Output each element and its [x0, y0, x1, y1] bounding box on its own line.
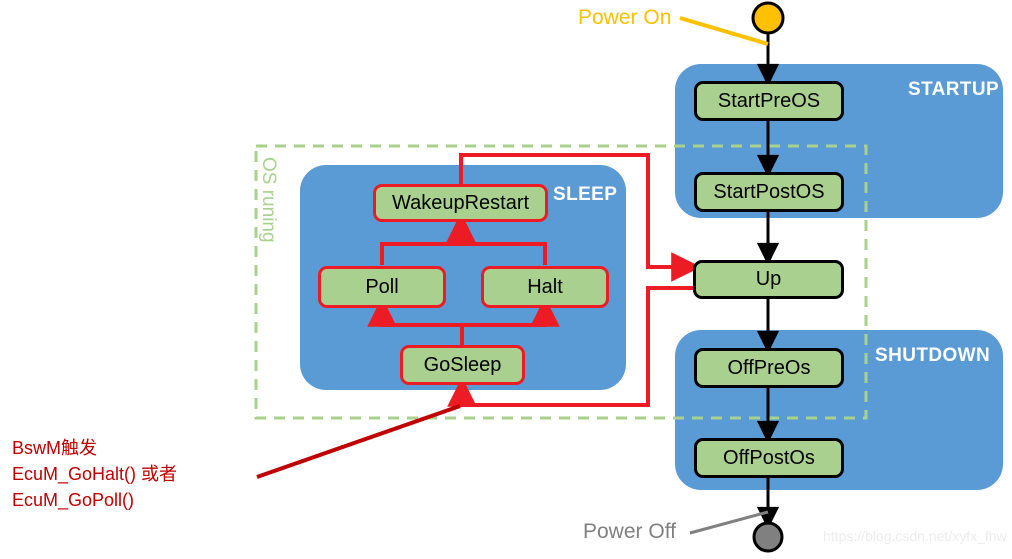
state-gosleep[interactable]: GoSleep: [400, 345, 525, 385]
leader-line-bswm-note: [257, 406, 460, 477]
power-off-final-node[interactable]: [754, 523, 782, 551]
bswm-trigger-note: BswM触发 EcuM_GoHalt() 或者 EcuM_GoPoll(): [12, 435, 177, 513]
state-offpostos[interactable]: OffPostOs: [694, 438, 844, 478]
diagram-canvas: STARTUP SLEEP SHUTDOWN OS runing StartPr…: [0, 0, 1012, 559]
os-running-label: OS runing: [257, 157, 279, 243]
state-up[interactable]: Up: [693, 260, 844, 299]
state-startpreos[interactable]: StartPreOS: [694, 81, 844, 121]
power-off-label: Power Off: [583, 520, 676, 544]
power-on-initial-node[interactable]: [753, 3, 783, 33]
power-on-label: Power On: [578, 6, 671, 30]
state-startpostos[interactable]: StartPostOS: [694, 172, 844, 212]
state-poll[interactable]: Poll: [318, 266, 446, 308]
state-halt[interactable]: Halt: [481, 266, 609, 308]
region-label-sleep: SLEEP: [553, 184, 617, 206]
leader-line-power-off: [690, 512, 768, 533]
region-label-shutdown: SHUTDOWN: [875, 345, 990, 367]
state-offpreos[interactable]: OffPreOs: [694, 348, 844, 388]
region-label-startup: STARTUP: [908, 79, 999, 101]
state-wakeuprestart[interactable]: WakeupRestart: [373, 184, 548, 222]
leader-line-power-on: [680, 18, 768, 44]
watermark-text: https://blog.csdn.net/xyfx_fhw: [823, 528, 1007, 544]
